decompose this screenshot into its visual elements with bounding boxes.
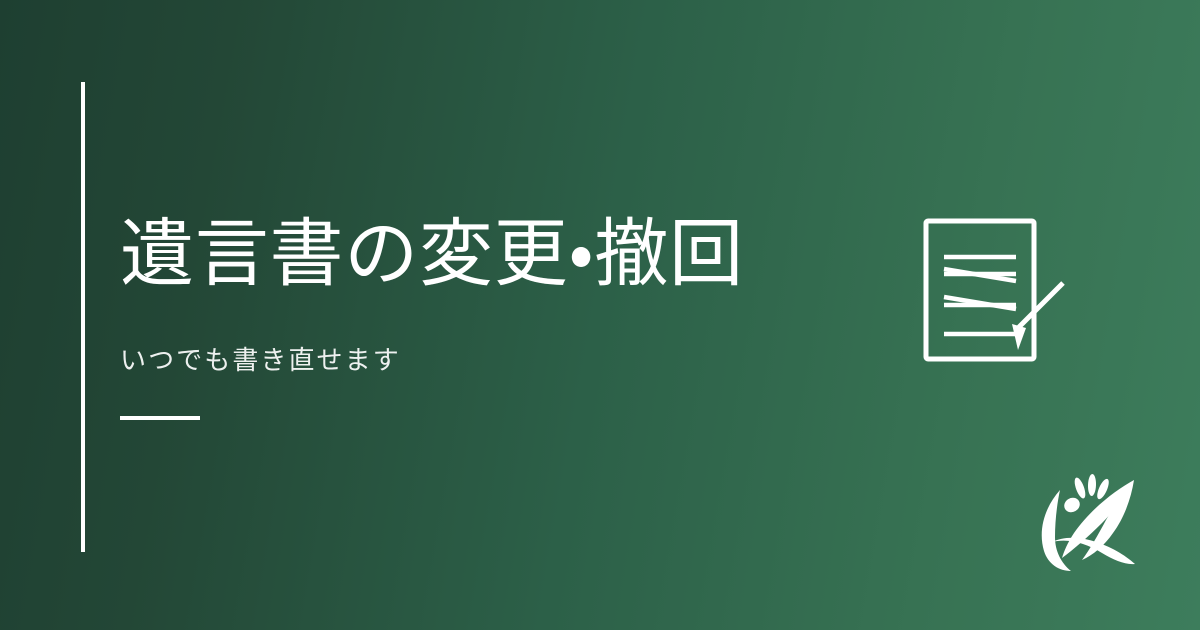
text-block: 遺言書の変更・撤回 いつでも書き直せます: [120, 212, 880, 420]
pen-icon: [1017, 283, 1063, 329]
leaf-logo-icon: [1030, 463, 1148, 575]
sprout-dot: [1062, 495, 1083, 515]
page-subtitle: いつでも書き直せます: [120, 343, 880, 379]
document-edit-icon-svg: [908, 198, 1088, 378]
sprout-petal-2: [1088, 474, 1097, 496]
page-title: 遺言書の変更・撤回: [120, 212, 880, 299]
leaf-logo-svg: [1030, 463, 1148, 575]
pen-nib-shape: [1012, 324, 1026, 350]
leaf-logo-shapes: [1042, 474, 1135, 571]
document-edit-icon: [908, 198, 1088, 378]
horizontal-dash-rule: [120, 416, 200, 420]
vertical-accent-rule: [81, 82, 85, 552]
ogp-card: 遺言書の変更・撤回 いつでも書き直せます: [0, 0, 1200, 630]
sprout-petal-1: [1072, 476, 1087, 499]
